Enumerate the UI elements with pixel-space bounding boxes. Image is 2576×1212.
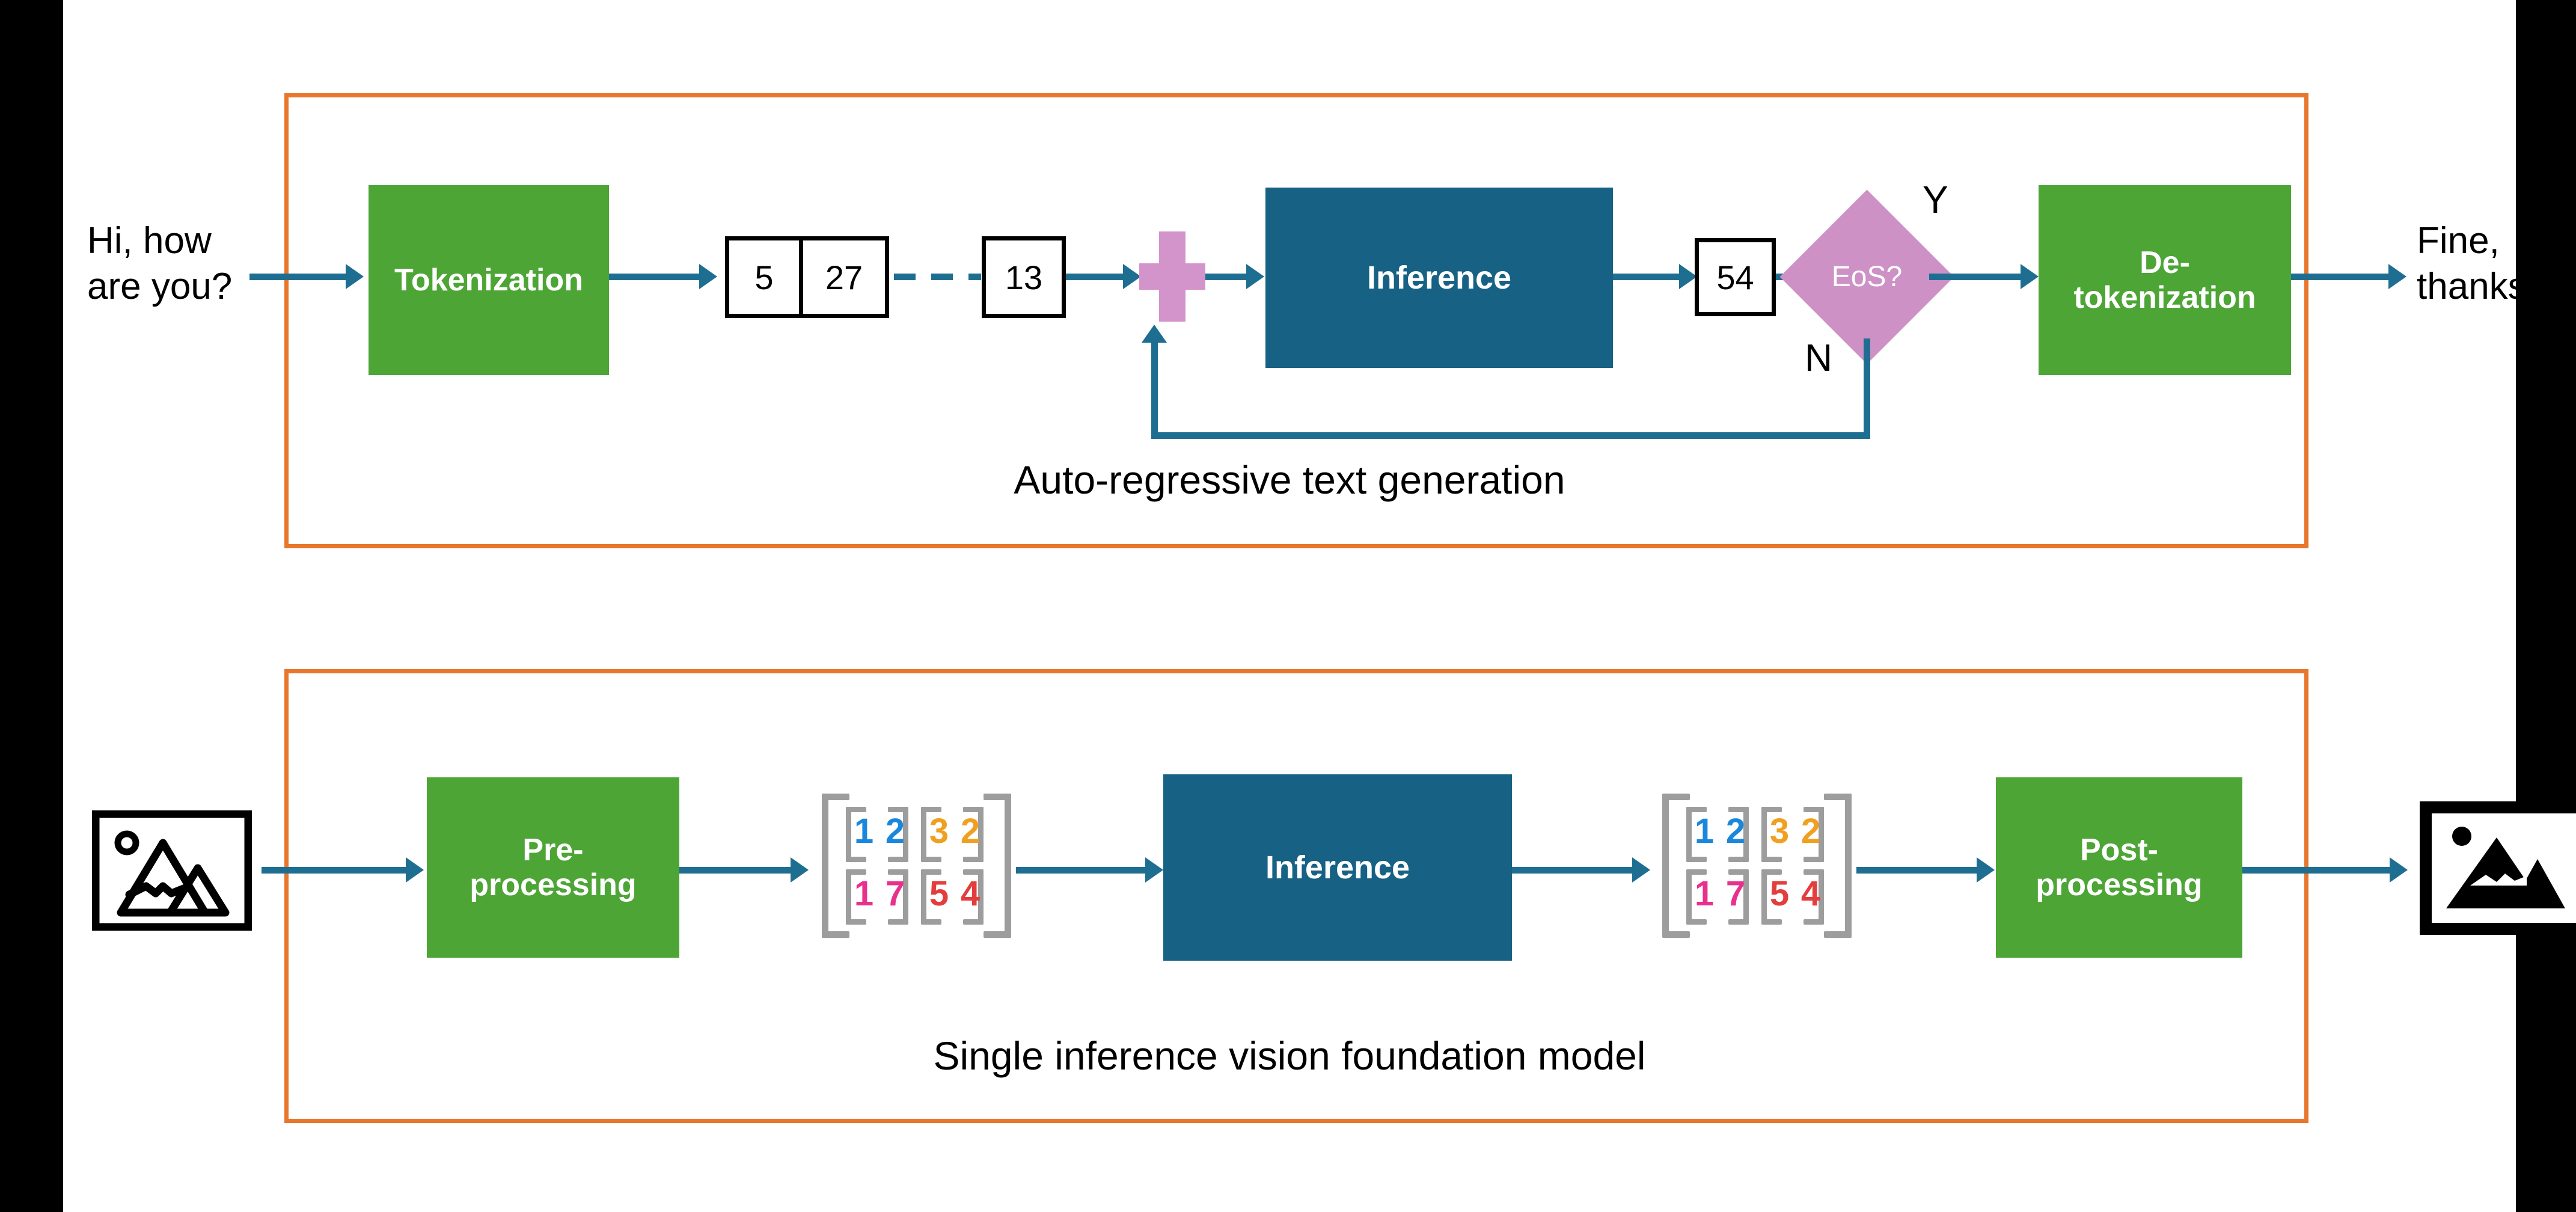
inference-box-text[interactable]: Inference (1265, 188, 1613, 368)
arrow-postprocessing-to-image (2242, 867, 2390, 874)
tensor-output-cell-0-0: 1 (1690, 814, 1719, 849)
arrowhead-token-to-merge (1123, 264, 1141, 289)
arrowhead-inference-to-tensor-out (1632, 857, 1650, 883)
image-filled-icon (2420, 801, 2576, 935)
detokenization-label-line2: tokenization (2073, 280, 2256, 315)
arrowhead-preprocessing-to-tensor (791, 857, 809, 883)
tensor-input-cell-3-0: 5 (925, 877, 953, 911)
image-outline-icon-svg (92, 810, 252, 931)
panel-vision-pipeline-caption: Single inference vision foundation model (63, 1033, 2516, 1079)
arrowhead-merge-to-inference (1246, 264, 1264, 289)
eos-no-label: N (1805, 338, 1832, 377)
input-prompt-line1: Hi, how (87, 218, 268, 264)
feedback-loop-vertical-right (1864, 338, 1870, 439)
preprocessing-label-line1: Pre- (522, 833, 583, 868)
detokenization-label-line1: De- (2140, 245, 2190, 280)
token-value-0: 5 (754, 258, 773, 297)
preprocessing-label-line2: processing (470, 868, 636, 902)
token-value-output: 54 (1716, 258, 1754, 297)
inference-label-vision: Inference (1265, 849, 1410, 886)
feedback-loop-vertical-left (1151, 343, 1158, 436)
tensor-output: 1 2 1 7 3 2 5 4 (1662, 794, 1852, 938)
tensor-input-cell-1-0: 1 (849, 877, 878, 911)
tensor-input-cell-1-1: 7 (881, 877, 910, 911)
plus-icon (1139, 231, 1205, 322)
arrow-tensor-to-postprocessing (1856, 867, 1977, 874)
output-response-line2: thanks. (2417, 264, 2576, 310)
postprocessing-label-line2: processing (2036, 868, 2202, 902)
inference-label-text: Inference (1367, 260, 1511, 296)
tensor-input-cell-2-1: 2 (956, 814, 985, 849)
input-prompt-text: Hi, how are you? (87, 218, 268, 309)
token-box-0: 5 (725, 236, 803, 318)
tensor-input-cell-3-1: 4 (956, 877, 985, 911)
postprocessing-box[interactable]: Post- processing (1996, 777, 2242, 958)
tensor-input-cell-0-0: 1 (849, 814, 878, 849)
detokenization-box[interactable]: De- tokenization (2039, 185, 2291, 375)
arrow-tokenization-to-tokens (609, 274, 699, 280)
tensor-input-cell-0-1: 2 (881, 814, 910, 849)
arrow-inference-to-tensor-out (1512, 867, 1632, 874)
tensor-output-cell-1-1: 7 (1721, 877, 1750, 911)
token-value-1: 27 (825, 258, 863, 297)
plus-icon-horizontal-bar (1139, 263, 1205, 290)
tokenization-box[interactable]: Tokenization (369, 185, 609, 375)
input-prompt-line2: are you? (87, 264, 268, 310)
tensor-output-cell-2-1: 2 (1796, 814, 1825, 849)
eos-decision-label-wrap: EoS? (1805, 215, 1929, 338)
postprocessing-label-line1: Post- (2080, 833, 2158, 868)
arrow-merge-to-inference (1205, 274, 1246, 280)
arrow-eos-to-detokenization (1929, 274, 2021, 280)
diagram-canvas: Hi, how are you? Tokenization 5 27 13 In… (0, 0, 2576, 1212)
arrowhead-tensor-to-postprocessing (1977, 857, 1995, 883)
token-box-output: 54 (1695, 238, 1776, 316)
inference-box-vision[interactable]: Inference (1163, 774, 1512, 961)
panel-text-pipeline-caption: Auto-regressive text generation (63, 457, 2516, 503)
tensor-output-cell-2-0: 3 (1765, 814, 1794, 849)
arrowhead-tokenization-to-tokens (699, 264, 717, 289)
arrowhead-feedback-into-merge (1142, 325, 1167, 343)
feedback-loop-horizontal (1151, 432, 1870, 439)
token-box-1: 27 (799, 236, 889, 318)
tensor-input: 1 2 1 7 3 2 5 4 (822, 794, 1011, 938)
image-filled-icon-svg (2420, 801, 2576, 935)
tensor-output-cell-3-1: 4 (1796, 877, 1825, 911)
arrowhead-postprocessing-to-image (2390, 857, 2408, 883)
output-response-text: Fine, thanks. (2417, 218, 2576, 309)
arrowhead-eos-to-detokenization (2021, 264, 2039, 289)
token-value-last: 13 (1005, 258, 1042, 297)
arrowhead-detokenization-to-output (2388, 264, 2406, 289)
arrow-inference-to-output-token (1613, 274, 1679, 280)
token-box-last: 13 (982, 236, 1066, 318)
tensor-output-cell-1-0: 1 (1690, 877, 1719, 911)
dashed-connector-icon (894, 274, 981, 280)
arrowhead-tensor-to-inference (1145, 857, 1163, 883)
arrow-preprocessing-to-tensor (679, 867, 791, 874)
tensor-output-cell-3-0: 5 (1765, 877, 1794, 911)
image-outline-icon (92, 810, 252, 931)
arrow-detokenization-to-output (2291, 274, 2388, 280)
arrowhead-image-to-preprocessing (406, 857, 424, 883)
tokenization-label: Tokenization (394, 263, 583, 298)
arrowhead-input-to-tokenization (346, 264, 364, 289)
tensor-input-cell-2-0: 3 (925, 814, 953, 849)
tensor-output-cell-0-1: 2 (1721, 814, 1750, 849)
arrow-input-to-tokenization (249, 274, 346, 280)
arrow-image-to-preprocessing (262, 867, 406, 874)
arrow-tensor-to-inference (1016, 867, 1145, 874)
arrow-token-to-merge (1066, 274, 1123, 280)
slide-page: Hi, how are you? Tokenization 5 27 13 In… (63, 0, 2516, 1212)
preprocessing-box[interactable]: Pre- processing (427, 777, 679, 958)
output-response-line1: Fine, (2417, 218, 2576, 264)
eos-yes-label: Y (1923, 180, 1948, 219)
eos-decision-label: EoS? (1832, 260, 1902, 293)
